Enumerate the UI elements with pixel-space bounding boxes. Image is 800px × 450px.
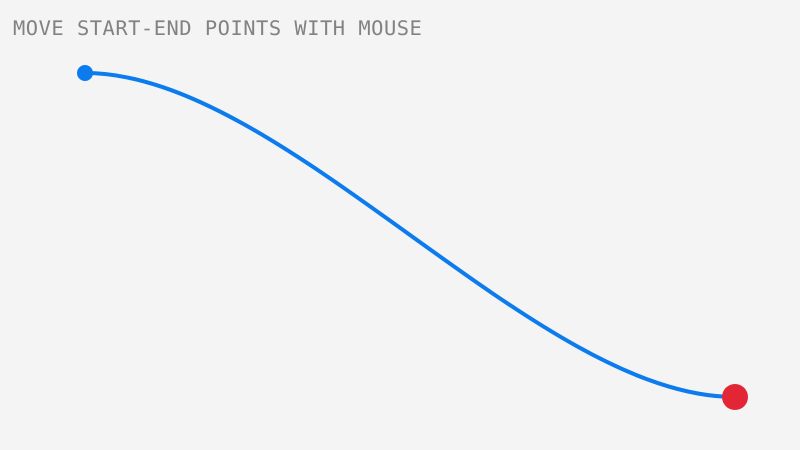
- curve-canvas: [0, 0, 800, 450]
- bezier-curve: [85, 73, 735, 397]
- start-point-handle[interactable]: [77, 65, 93, 81]
- end-point-handle[interactable]: [722, 384, 748, 410]
- canvas-stage: MOVE START-END POINTS WITH MOUSE: [0, 0, 800, 450]
